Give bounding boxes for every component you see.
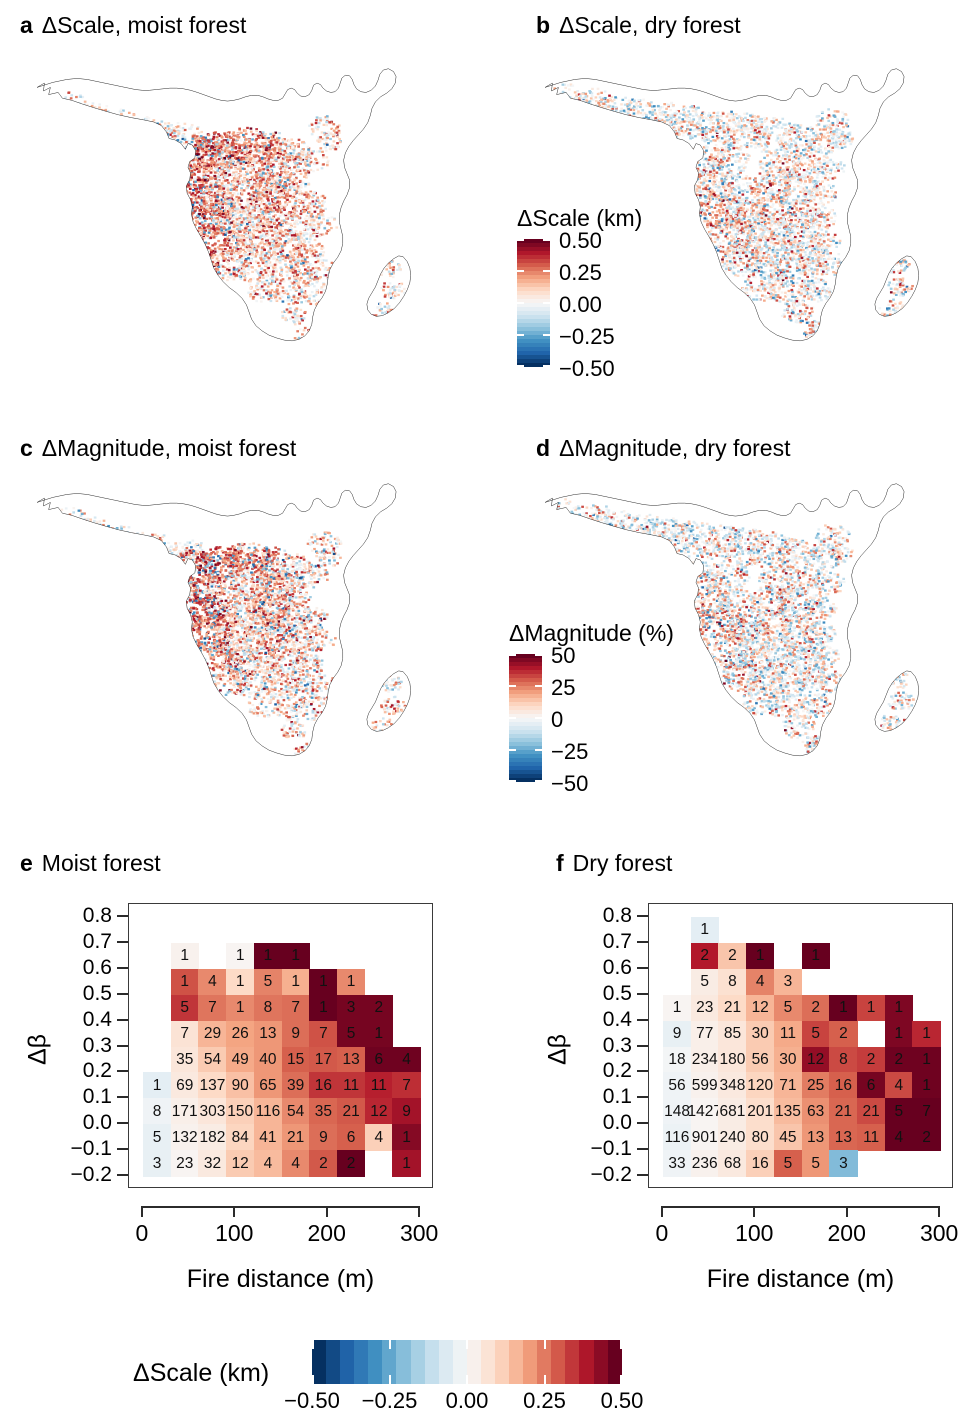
map-data-point — [156, 134, 159, 136]
map-data-point — [306, 250, 309, 252]
map-data-point — [255, 162, 258, 164]
map-data-point — [301, 193, 304, 195]
map-data-point — [90, 119, 93, 121]
map-data-point — [243, 182, 246, 184]
map-data-point — [384, 306, 387, 308]
map-data-point — [246, 265, 249, 267]
map-data-point — [261, 285, 264, 287]
map-data-point — [382, 262, 385, 264]
map-data-point — [138, 125, 141, 127]
map-data-point — [289, 318, 292, 320]
map-data-point — [206, 173, 209, 175]
map-data-point — [238, 231, 241, 233]
map-data-point — [336, 132, 339, 134]
map-data-point — [329, 145, 332, 147]
map-data-point — [63, 100, 66, 102]
map-data-point — [223, 268, 226, 270]
map-data-point — [247, 143, 250, 145]
map-data-point — [201, 185, 204, 187]
map-data-point — [304, 218, 307, 220]
map-data-point — [123, 117, 126, 119]
map-data-point — [268, 213, 271, 215]
map-data-point — [283, 354, 286, 356]
map-data-point — [242, 164, 245, 166]
map-data-point — [106, 119, 109, 121]
map-data-point — [135, 124, 138, 126]
map-data-point — [312, 170, 315, 172]
map-data-point — [338, 132, 341, 134]
map-data-point — [184, 192, 187, 194]
map-data-point — [104, 128, 107, 130]
map-data-point — [150, 137, 153, 139]
map-data-point — [298, 139, 301, 141]
map-data-point — [376, 267, 379, 269]
map-data-point — [272, 178, 275, 180]
map-data-point — [291, 282, 294, 284]
map-data-point — [247, 182, 250, 184]
map-data-point — [309, 343, 312, 345]
map-data-point — [194, 178, 197, 180]
map-data-point — [204, 251, 207, 253]
map-data-point — [272, 244, 275, 246]
map-data-point — [239, 228, 242, 230]
map-data-point — [214, 178, 217, 180]
map-data-point — [215, 199, 218, 201]
map-data-point — [322, 156, 325, 158]
map-data-point — [233, 192, 236, 194]
map-data-point — [214, 248, 217, 250]
map-data-point — [226, 261, 229, 263]
map-data-point — [154, 136, 157, 138]
map-data-point — [108, 116, 111, 118]
map-data-point — [98, 106, 101, 108]
map-data-point — [213, 236, 216, 238]
map-data-point — [314, 254, 317, 256]
map-data-point — [151, 135, 154, 137]
map-data-point — [267, 267, 270, 269]
map-data-point — [150, 129, 153, 131]
map-data-point — [256, 206, 259, 208]
map-data-point — [143, 124, 146, 126]
map-data-point — [400, 290, 403, 292]
map-data-point — [99, 116, 102, 118]
map-data-point — [288, 189, 291, 191]
map-data-point — [225, 212, 228, 214]
map-data-point — [167, 139, 170, 141]
map-data-point — [243, 255, 246, 257]
map-data-point — [220, 163, 223, 165]
map-data-point — [314, 343, 317, 345]
map-data-point — [389, 292, 392, 294]
map-data-point — [391, 313, 394, 315]
map-data-point — [249, 287, 252, 289]
map-data-point — [300, 213, 303, 215]
map-data-point — [198, 146, 201, 148]
map-data-point — [227, 150, 230, 152]
map-data-point — [197, 150, 200, 152]
map-data-point — [190, 155, 193, 157]
map-data-point — [274, 139, 277, 141]
map-data-point — [243, 189, 246, 191]
map-data-point — [198, 239, 201, 241]
map-data-point — [174, 200, 177, 202]
map-data-point — [258, 294, 261, 296]
map-data-point — [126, 129, 129, 131]
map-data-point — [55, 96, 58, 98]
map-data-point — [199, 202, 202, 204]
map-data-point — [172, 145, 175, 147]
map-data-point — [294, 226, 297, 228]
map-data-point — [306, 156, 309, 158]
map-data-point — [299, 272, 302, 274]
map-data-point — [287, 358, 290, 360]
map-data-point — [306, 270, 309, 272]
panel-tag-b: b — [536, 12, 550, 38]
map-data-point — [81, 113, 84, 115]
map-data-point — [243, 212, 246, 214]
map-data-point — [203, 169, 206, 171]
map-data-point — [386, 302, 389, 304]
map-data-point — [326, 222, 329, 224]
map-data-point — [293, 209, 296, 211]
map-data-point — [288, 201, 291, 203]
map-data-point — [182, 216, 185, 218]
map-data-point — [223, 242, 226, 244]
map-data-point — [209, 264, 212, 266]
map-data-point — [215, 264, 218, 266]
map-data-point — [261, 281, 264, 283]
map-data-point — [321, 245, 324, 247]
map-data-point — [223, 239, 226, 241]
map-data-point — [77, 112, 80, 114]
map-data-point — [55, 105, 58, 107]
map-data-point — [305, 340, 308, 342]
map-data-point — [187, 206, 190, 208]
map-data-point — [293, 193, 296, 195]
map-data-point — [199, 245, 202, 247]
map-data-point — [318, 150, 321, 152]
map-data-point — [230, 214, 233, 216]
map-data-point — [241, 152, 244, 154]
map-data-point — [292, 214, 295, 216]
map-data-point — [246, 169, 249, 171]
map-data-point — [207, 165, 210, 167]
map-data-point — [289, 270, 292, 272]
map-data-point — [216, 141, 219, 143]
map-data-point — [226, 279, 229, 281]
map-data-point — [72, 110, 75, 112]
map-data-point — [293, 361, 296, 363]
map-data-point — [58, 102, 61, 104]
map-data-point — [238, 259, 241, 261]
map-data-point — [211, 180, 214, 182]
map-data-point — [234, 168, 237, 170]
map-data-point — [302, 204, 305, 206]
map-data-point — [173, 150, 176, 152]
map-data-point — [245, 187, 248, 189]
map-data-point — [270, 240, 273, 242]
map-data-point — [315, 289, 318, 291]
map-data-point — [210, 162, 213, 164]
map-data-point — [285, 350, 288, 352]
map-data-point — [250, 258, 253, 260]
map-data-point — [286, 223, 289, 225]
map-data-point — [297, 260, 300, 262]
map-data-point — [73, 102, 76, 104]
map-data-point — [205, 153, 208, 155]
map-data-point — [295, 156, 298, 158]
map-data-point — [297, 352, 300, 354]
map-data-point — [208, 154, 211, 156]
map-data-point — [290, 186, 293, 188]
map-data-point — [238, 165, 241, 167]
map-data-point — [249, 283, 252, 285]
map-data-point — [326, 219, 329, 221]
map-data-point — [156, 140, 159, 142]
map-data-point — [293, 223, 296, 225]
map-data-point — [317, 338, 320, 340]
map-data-point — [334, 274, 337, 276]
map-data-point — [192, 192, 195, 194]
map-data-point — [383, 282, 386, 284]
map-data-point — [301, 291, 304, 293]
map-data-point — [184, 123, 187, 125]
map-data-point — [196, 128, 199, 130]
map-data-point — [259, 169, 262, 171]
map-data-point — [289, 195, 292, 197]
map-data-point — [323, 139, 326, 141]
map-data-point — [279, 143, 282, 145]
figure-root: aΔScale, moist forest bΔScale, dry fores… — [0, 0, 971, 1416]
map-data-point — [295, 191, 298, 193]
map-data-point — [182, 190, 185, 192]
map-data-point — [133, 132, 136, 134]
map-data-point — [236, 261, 239, 263]
map-data-point — [262, 149, 265, 151]
map-data-point — [205, 171, 208, 173]
panel-title-b: bΔScale, dry forest — [536, 14, 741, 37]
map-data-point — [295, 215, 298, 217]
map-data-point — [193, 133, 196, 135]
map-data-point — [262, 223, 265, 225]
map-data-point — [185, 208, 188, 210]
map-data-point — [313, 191, 316, 193]
map-data-point — [304, 285, 307, 287]
map-data-point — [376, 267, 379, 269]
map-data-point — [310, 209, 313, 211]
map-data-point — [175, 155, 178, 157]
map-data-point — [185, 223, 188, 225]
map-data-point — [185, 168, 188, 170]
map-data-point — [291, 218, 294, 220]
map-data-point — [289, 240, 292, 242]
map-data-point — [273, 186, 276, 188]
map-data-point — [296, 220, 299, 222]
map-data-point — [187, 208, 190, 210]
map-data-point — [185, 204, 188, 206]
map-data-point — [283, 150, 286, 152]
map-data-point — [280, 224, 283, 226]
map-data-point — [279, 354, 282, 356]
map-data-point — [77, 121, 80, 123]
map-data-point — [218, 266, 221, 268]
map-data-point — [268, 151, 271, 153]
map-data-point — [248, 227, 251, 229]
map-data-point — [177, 146, 180, 148]
map-data-point — [193, 186, 196, 188]
map-data-point — [273, 207, 276, 209]
map-data-point — [231, 158, 234, 160]
map-data-point — [139, 129, 142, 131]
map-data-point — [98, 120, 101, 122]
map-data-point — [84, 123, 87, 125]
map-data-point — [249, 177, 252, 179]
map-data-point — [198, 132, 201, 134]
map-data-point — [298, 269, 301, 271]
map-data-point — [319, 136, 322, 138]
map-data-point — [269, 237, 272, 239]
map-data-point — [187, 208, 190, 210]
map-data-point — [195, 252, 198, 254]
map-data-point — [288, 212, 291, 214]
map-data-point — [291, 181, 294, 183]
map-data-point — [170, 146, 173, 148]
map-data-point — [183, 218, 186, 220]
map-data-point — [112, 128, 115, 130]
map-data-point — [188, 151, 191, 153]
map-data-point — [213, 264, 216, 266]
map-data-point — [203, 227, 206, 229]
map-data-point — [286, 156, 289, 158]
map-data-point — [215, 168, 218, 170]
map-data-point — [274, 248, 277, 250]
map-data-point — [287, 179, 290, 181]
map-data-point — [295, 239, 298, 241]
map-data-point — [123, 127, 126, 129]
map-data-point — [382, 266, 385, 268]
map-data-point — [395, 286, 398, 288]
map-data-point — [172, 150, 175, 152]
map-data-point — [307, 341, 310, 343]
map-data-point — [315, 251, 318, 253]
map-data-point — [105, 119, 108, 121]
map-data-point — [238, 252, 241, 254]
map-data-point — [180, 141, 183, 143]
map-data-point — [287, 350, 290, 352]
map-data-point — [396, 269, 399, 271]
map-data-point — [313, 226, 316, 228]
map-data-point — [189, 208, 192, 210]
map-data-point — [244, 277, 247, 279]
map-data-point — [173, 127, 176, 129]
map-data-point — [220, 135, 223, 137]
map-data-point — [277, 186, 280, 188]
map-data-point — [238, 226, 241, 228]
map-data-point — [398, 290, 401, 292]
map-data-point — [235, 151, 238, 153]
map-data-point — [269, 133, 272, 135]
map-data-point — [387, 259, 390, 261]
map-data-point — [170, 146, 173, 148]
map-data-point — [255, 171, 258, 173]
map-data-point — [223, 139, 226, 141]
map-data-point — [292, 256, 295, 258]
map-data-point — [252, 226, 255, 228]
map-data-point — [276, 245, 279, 247]
map-data-point — [221, 141, 224, 143]
map-data-point — [291, 168, 294, 170]
map-data-point — [202, 150, 205, 152]
map-data-point — [224, 176, 227, 178]
map-data-point — [184, 208, 187, 210]
map-data-point — [230, 252, 233, 254]
map-data-point — [270, 230, 273, 232]
map-data-point — [273, 166, 276, 168]
map-data-point — [86, 108, 89, 110]
map-data-point — [194, 240, 197, 242]
map-data-point — [219, 250, 222, 252]
map-data-point — [234, 208, 237, 210]
map-data-point — [268, 257, 271, 259]
map-data-point — [304, 183, 307, 185]
map-data-point — [328, 229, 331, 231]
map-data-point — [322, 251, 325, 253]
map-data-point — [61, 104, 64, 106]
map-data-point — [263, 227, 266, 229]
map-data-point — [205, 149, 208, 151]
map-data-point — [291, 142, 294, 144]
map-data-point — [266, 165, 269, 167]
map-data-point — [297, 185, 300, 187]
map-data-point — [286, 233, 289, 235]
map-data-point — [276, 290, 279, 292]
map-data-point — [75, 108, 78, 110]
map-data-point — [227, 182, 230, 184]
map-data-point — [151, 127, 154, 129]
map-data-point — [300, 301, 303, 303]
map-data-point — [258, 231, 261, 233]
map-data-point — [296, 356, 299, 358]
map-data-point — [255, 154, 258, 156]
map-data-point — [234, 213, 237, 215]
map-data-point — [145, 128, 148, 130]
map-data-point — [72, 106, 75, 108]
map-data-point — [320, 221, 323, 223]
map-data-point — [182, 206, 185, 208]
map-data-point — [135, 140, 138, 142]
map-data-point — [318, 268, 321, 270]
map-data-point — [216, 257, 219, 259]
map-data-point — [314, 211, 317, 213]
map-data-point — [91, 108, 94, 110]
map-data-point — [255, 142, 258, 144]
map-data-point — [265, 216, 268, 218]
map-data-point — [243, 161, 246, 163]
map-data-point — [257, 245, 260, 247]
map-data-point — [189, 165, 192, 167]
map-data-point — [300, 356, 303, 358]
map-data-point — [258, 201, 261, 203]
map-data-point — [310, 215, 313, 217]
map-data-point — [210, 171, 213, 173]
map-data-point — [293, 267, 296, 269]
map-data-point — [235, 196, 238, 198]
map-data-point — [159, 127, 162, 129]
map-data-point — [227, 245, 230, 247]
map-data-point — [283, 207, 286, 209]
map-data-point — [231, 148, 234, 150]
map-data-point — [77, 104, 80, 106]
